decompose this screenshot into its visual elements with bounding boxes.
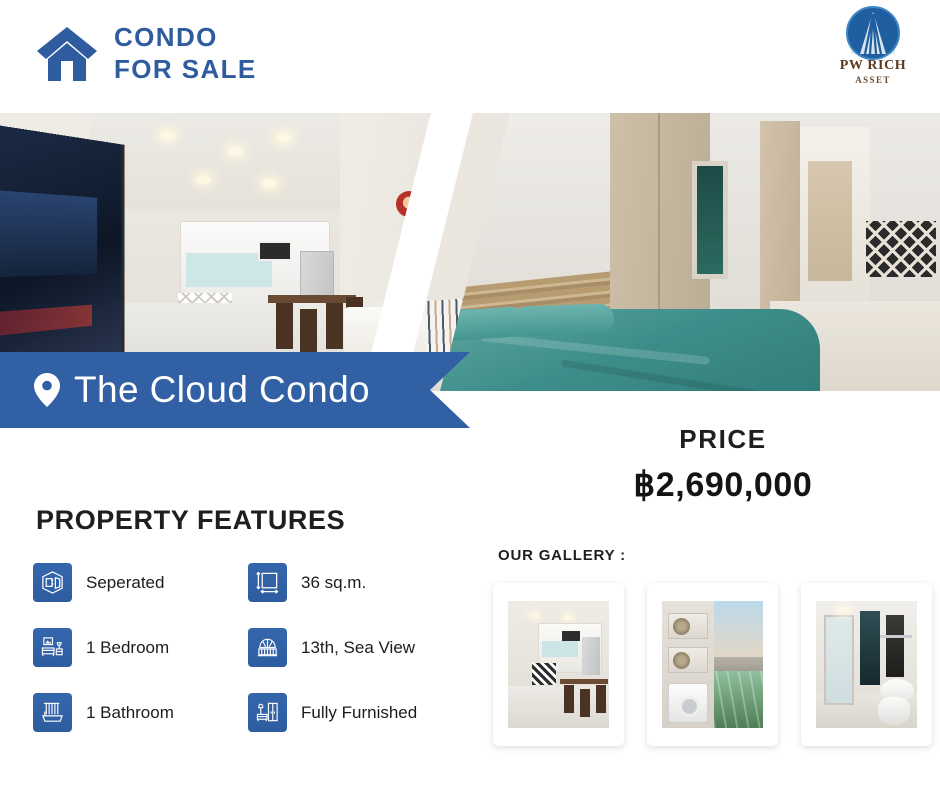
- feature-label: 1 Bedroom: [86, 638, 169, 658]
- hero-photo-bedroom: [440, 113, 940, 391]
- gallery-photo-balcony: [662, 601, 763, 728]
- gallery-row: [493, 583, 933, 746]
- price-block: PRICE ฿2,690,000: [530, 424, 916, 505]
- brand-text: CONDO FOR SALE: [114, 22, 257, 85]
- brand-line-1: CONDO: [114, 22, 257, 54]
- gallery-photo-kitchen: [508, 601, 609, 728]
- tower-logo-icon: [846, 6, 900, 60]
- feature-floor-view: 13th, Sea View: [248, 628, 463, 667]
- price-value: ฿2,690,000: [530, 465, 916, 505]
- feature-label: Seperated: [86, 573, 164, 593]
- feature-bathroom: 1 Bathroom: [33, 693, 248, 732]
- logo-name: PW RICH: [830, 58, 916, 74]
- feature-label: 1 Bathroom: [86, 703, 174, 723]
- feature-label: Fully Furnished: [301, 703, 417, 723]
- features-grid: Seperated 36 sq.m.: [33, 563, 483, 732]
- company-logo: PW RICH ASSET: [830, 6, 916, 85]
- feature-furnished: Fully Furnished: [248, 693, 463, 732]
- page-title: The Cloud Condo: [74, 369, 370, 411]
- house-icon: [36, 25, 98, 83]
- brand-line-2: FOR SALE: [114, 54, 257, 86]
- feature-label: 36 sq.m.: [301, 573, 366, 593]
- bathroom-icon: [33, 693, 72, 732]
- bedroom-icon: [33, 628, 72, 667]
- gallery-thumb-2[interactable]: [647, 583, 778, 746]
- property-title-banner: The Cloud Condo: [0, 352, 470, 428]
- furniture-icon: [248, 693, 287, 732]
- area-dimension-icon: [248, 563, 287, 602]
- brand-block: CONDO FOR SALE: [36, 22, 257, 85]
- logo-subtitle: ASSET: [830, 75, 916, 85]
- features-heading: PROPERTY FEATURES: [36, 505, 345, 536]
- price-label: PRICE: [530, 424, 916, 455]
- gallery-thumb-3[interactable]: [801, 583, 932, 746]
- gallery-heading: OUR GALLERY :: [498, 547, 626, 564]
- page-header: CONDO FOR SALE PW RICH ASSET: [0, 0, 940, 113]
- feature-bedroom: 1 Bedroom: [33, 628, 248, 667]
- location-pin-icon: [34, 373, 60, 407]
- condo-listing-page: CONDO FOR SALE PW RICH ASSET: [0, 0, 940, 788]
- feature-separated: Seperated: [33, 563, 248, 602]
- hero-images: [0, 113, 940, 391]
- balcony-window-icon: [248, 628, 287, 667]
- separated-room-icon: [33, 563, 72, 602]
- gallery-thumb-1[interactable]: [493, 583, 624, 746]
- feature-label: 13th, Sea View: [301, 638, 415, 658]
- feature-area: 36 sq.m.: [248, 563, 463, 602]
- gallery-photo-bathroom: [816, 601, 917, 728]
